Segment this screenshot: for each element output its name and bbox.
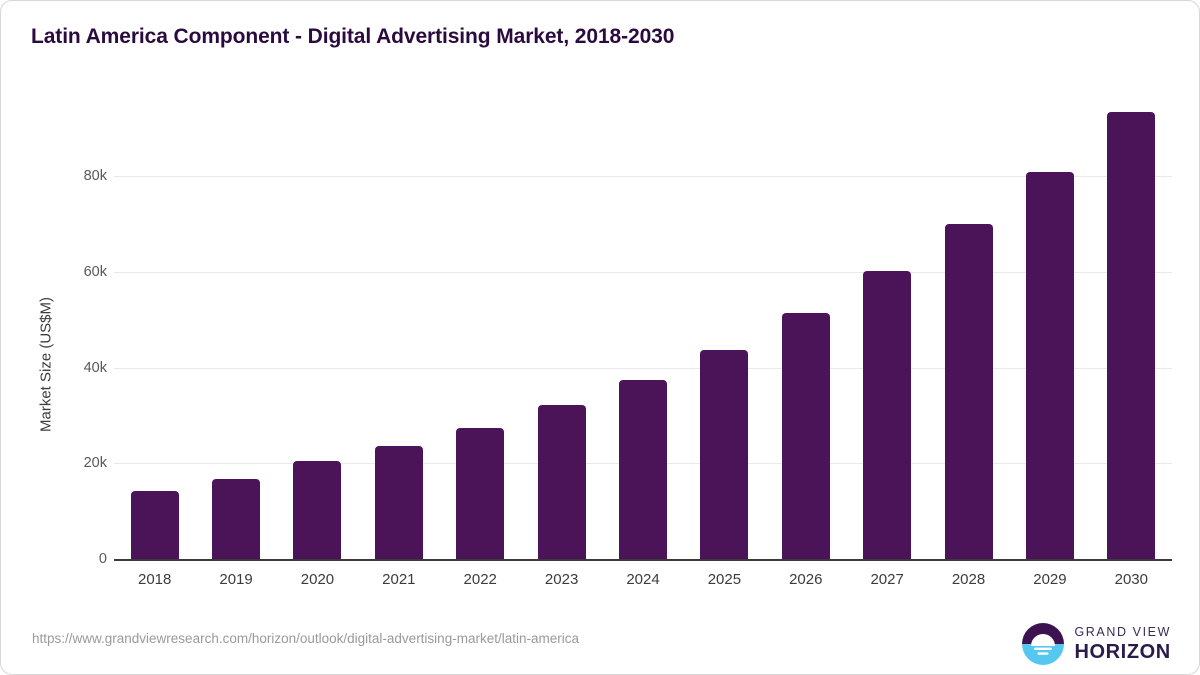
y-axis-tick-label: 80k — [27, 168, 107, 184]
bar-2028[interactable] — [945, 224, 993, 559]
x-axis-line — [114, 559, 1172, 561]
bar-2026[interactable] — [782, 313, 830, 559]
bar-2025[interactable] — [700, 350, 748, 559]
x-axis-tick-label: 2018 — [110, 571, 200, 588]
bar-2027[interactable] — [863, 271, 911, 559]
bar-2030[interactable] — [1107, 112, 1155, 559]
bar-2023[interactable] — [538, 405, 586, 559]
x-axis-tick-label: 2025 — [679, 571, 769, 588]
bar-2021[interactable] — [375, 446, 423, 559]
x-axis-tick-label: 2019 — [191, 571, 281, 588]
bar-2020[interactable] — [293, 461, 341, 559]
logo-line-grand-view: GRAND VIEW — [1074, 626, 1171, 639]
gridline — [114, 176, 1172, 177]
x-axis-tick-label: 2029 — [1005, 571, 1095, 588]
y-axis-tick-label: 60k — [27, 264, 107, 280]
x-axis-tick-label: 2028 — [924, 571, 1014, 588]
y-axis-tick-label: 0 — [27, 551, 107, 567]
x-axis-tick-label: 2026 — [761, 571, 851, 588]
x-axis-tick-label: 2027 — [842, 571, 932, 588]
bar-2019[interactable] — [212, 479, 260, 559]
y-axis-tick-label: 20k — [27, 455, 107, 471]
chart-plot-area: Market Size (US$M) 020k40k60k80k 2018201… — [1, 1, 1200, 675]
chart-screenshot: Latin America Component - Digital Advert… — [0, 0, 1200, 675]
x-axis-tick-label: 2021 — [354, 571, 444, 588]
x-axis-tick-label: 2023 — [517, 571, 607, 588]
horizon-circle-icon — [1021, 622, 1065, 666]
logo-wordmark: GRAND VIEW HORIZON — [1074, 626, 1171, 662]
bar-2022[interactable] — [456, 428, 504, 559]
gridline — [114, 272, 1172, 273]
x-axis-tick-label: 2022 — [435, 571, 525, 588]
gridline — [114, 368, 1172, 369]
x-axis-tick-label: 2020 — [272, 571, 362, 588]
bar-2029[interactable] — [1026, 172, 1074, 559]
source-url[interactable]: https://www.grandviewresearch.com/horizo… — [32, 631, 579, 646]
logo-line-horizon: HORIZON — [1074, 642, 1171, 662]
x-axis-tick-label: 2030 — [1086, 571, 1176, 588]
bar-2018[interactable] — [131, 491, 179, 559]
x-axis-tick-label: 2024 — [598, 571, 688, 588]
y-axis-tick-label: 40k — [27, 360, 107, 376]
grand-view-horizon-logo: GRAND VIEW HORIZON — [1021, 622, 1171, 666]
bar-2024[interactable] — [619, 380, 667, 559]
